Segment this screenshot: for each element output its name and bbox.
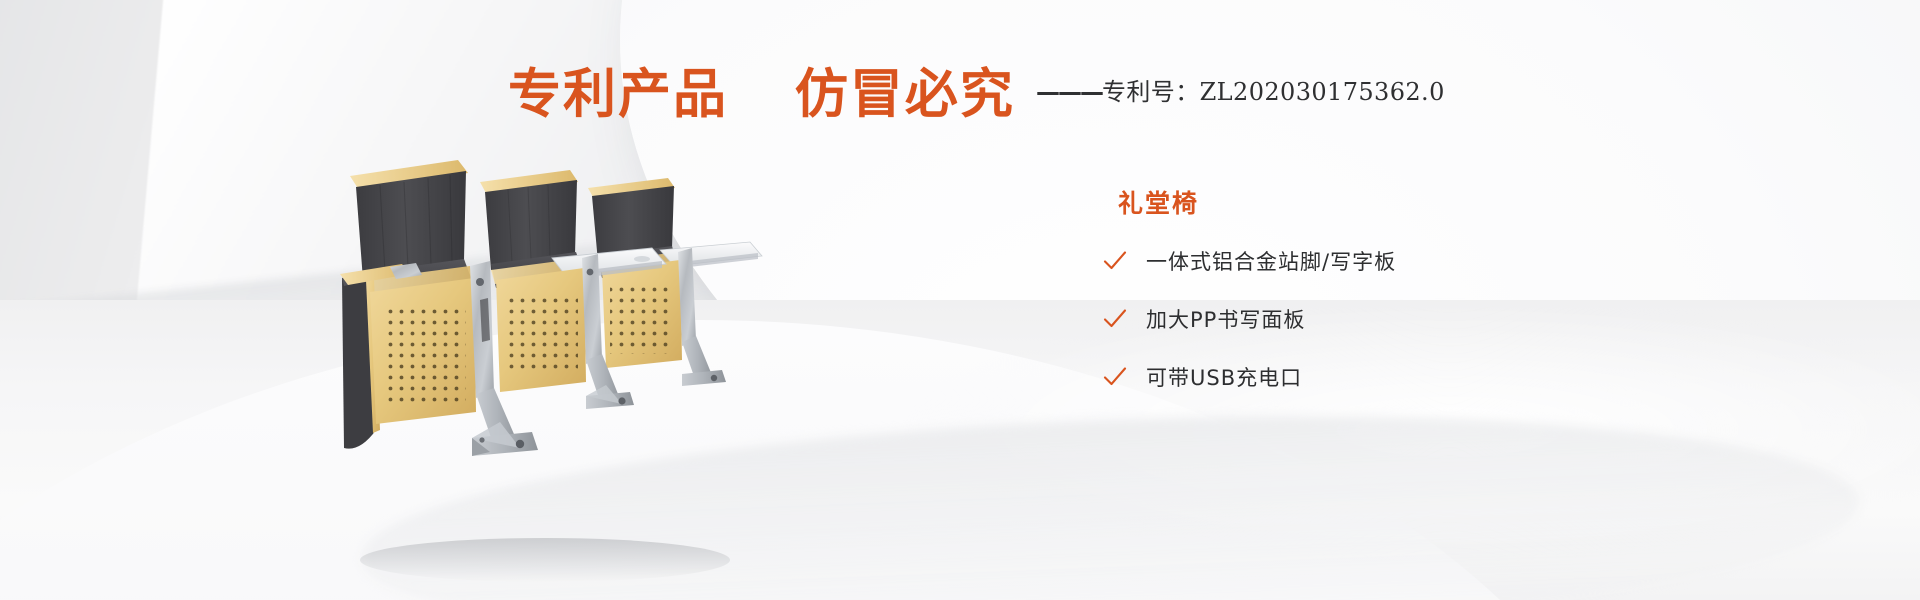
patent-dash-prefix: ——— xyxy=(1036,78,1102,106)
chair-shadow xyxy=(360,538,730,582)
check-icon xyxy=(1102,306,1128,332)
patent-label: 专利号： xyxy=(1102,78,1200,106)
product-banner: 专利产品 仿冒必究 ———专利号：ZL202030175362.0 礼堂椅 一体… xyxy=(0,0,1920,600)
patent-number-line: ———专利号：ZL202030175362.0 xyxy=(1036,72,1445,107)
headline: 专利产品 仿冒必究 xyxy=(508,52,1015,128)
product-title: 礼堂椅 xyxy=(1118,184,1199,220)
feature-label: 一体式铝合金站脚/写字板 xyxy=(1146,246,1396,276)
feature-list: 一体式铝合金站脚/写字板 加大PP书写面板 可带USB充电口 xyxy=(1102,232,1742,406)
feature-item: 加大PP书写面板 xyxy=(1102,290,1742,348)
patent-number-value: ZL202030175362.0 xyxy=(1200,78,1445,106)
check-icon xyxy=(1102,248,1128,274)
feature-item: 可带USB充电口 xyxy=(1102,348,1742,406)
check-icon xyxy=(1102,364,1128,390)
feature-label: 加大PP书写面板 xyxy=(1146,304,1305,334)
chair-unit-3 xyxy=(588,178,762,386)
headline-part-2: 仿冒必究 xyxy=(795,64,1015,125)
auditorium-chair-render xyxy=(330,130,800,590)
headline-part-1: 专利产品 xyxy=(508,64,728,125)
feature-item: 一体式铝合金站脚/写字板 xyxy=(1102,232,1742,290)
feature-label: 可带USB充电口 xyxy=(1146,362,1302,392)
